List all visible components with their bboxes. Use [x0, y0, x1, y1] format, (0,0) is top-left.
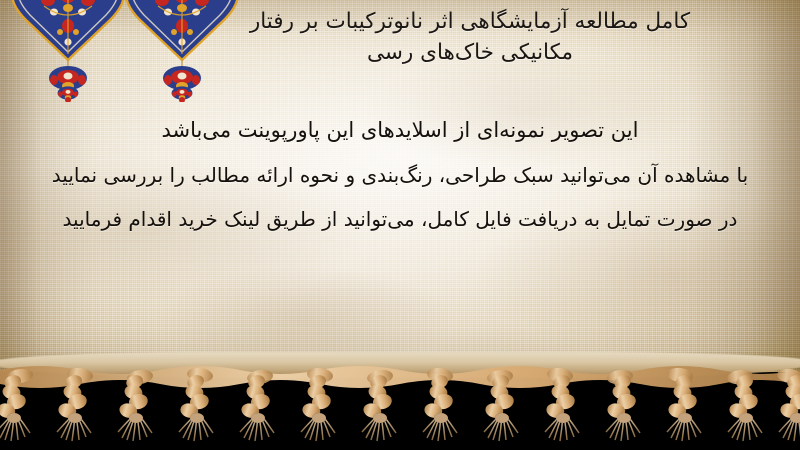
carpet-medallion-icon	[8, 0, 128, 102]
slide-title-line-1: کامل مطالعه آزمایشگاهی اثر نانوترکیبات ب…	[150, 6, 790, 37]
carpet-medallion-left-svg	[8, 0, 128, 102]
carpet-fringe-svg	[0, 360, 800, 450]
body-line-1: این تصویر نمونه‌ای از اسلایدهای این پاور…	[20, 108, 780, 153]
slide-title-line-2: مکانیکی خاک‌های رسی	[150, 37, 790, 68]
slide-title: کامل مطالعه آزمایشگاهی اثر نانوترکیبات ب…	[150, 6, 790, 68]
body-line-2: با مشاهده آن می‌توانید سبک طراحی، رنگ‌بن…	[20, 153, 780, 197]
carpet-fringe	[0, 360, 800, 450]
body-line-3: در صورت تمایل به دریافت فایل کامل، می‌تو…	[20, 197, 780, 241]
slide-body-text: این تصویر نمونه‌ای از اسلایدهای این پاور…	[20, 108, 780, 241]
slide-canvas: کامل مطالعه آزمایشگاهی اثر نانوترکیبات ب…	[0, 0, 800, 450]
